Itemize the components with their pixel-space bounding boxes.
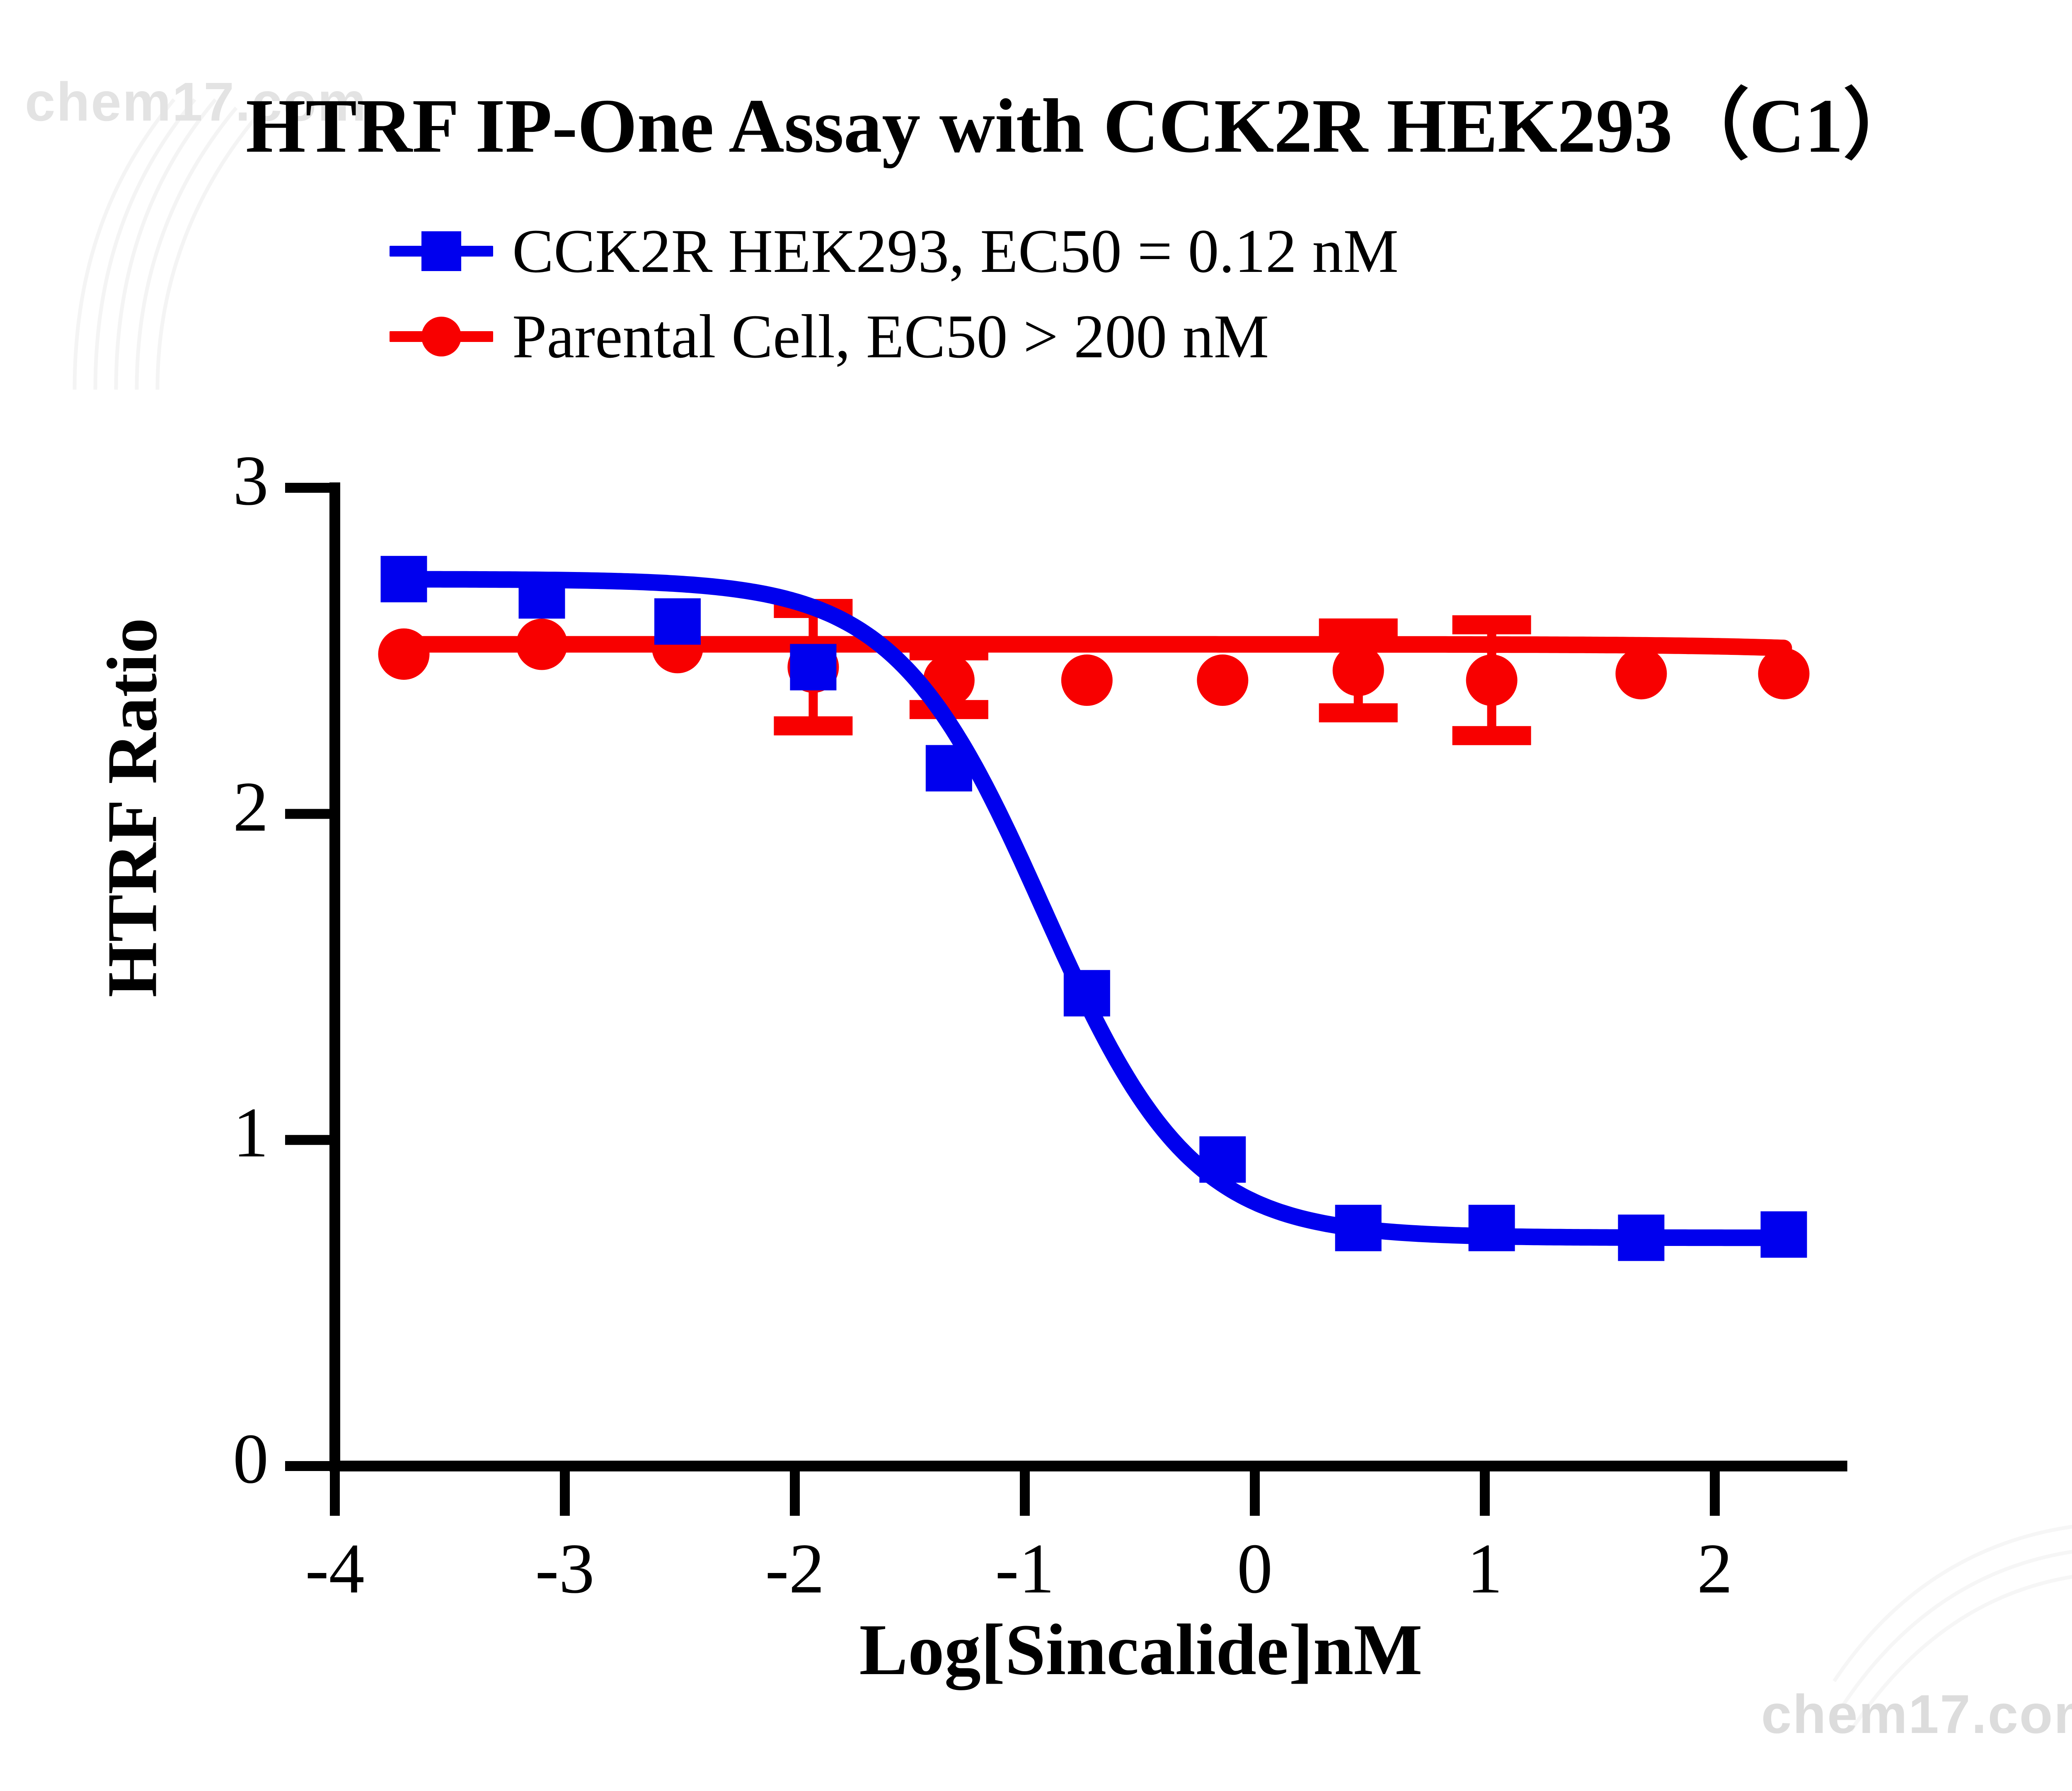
data-point-square[interactable]: [519, 572, 565, 619]
y-axis-tick-label: 2: [233, 766, 269, 848]
x-axis-title: Log[Sincalide]nM: [0, 1608, 2072, 1692]
data-point-circle[interactable]: [1615, 648, 1667, 699]
x-axis-tick-label: -3: [535, 1528, 594, 1610]
data-point-square[interactable]: [1199, 1137, 1246, 1183]
x-axis-tick-label: -4: [305, 1528, 364, 1610]
data-point-circle[interactable]: [378, 628, 430, 680]
data-point-square[interactable]: [1335, 1205, 1382, 1251]
data-point-square[interactable]: [1761, 1211, 1807, 1258]
fit-curve: [404, 645, 1784, 648]
data-point-square[interactable]: [926, 745, 972, 791]
data-point-square[interactable]: [381, 556, 427, 602]
data-point-circle[interactable]: [1197, 654, 1248, 706]
data-point-circle[interactable]: [1758, 648, 1810, 699]
x-axis-tick-label: 2: [1697, 1528, 1733, 1610]
x-axis-tick-label: 0: [1237, 1528, 1273, 1610]
data-point-circle[interactable]: [1333, 645, 1384, 696]
data-point-square[interactable]: [1064, 970, 1110, 1016]
data-point-circle[interactable]: [1061, 654, 1113, 706]
data-point-circle[interactable]: [516, 619, 568, 670]
y-axis-tick-label: 0: [233, 1418, 269, 1500]
chart-canvas: chem17.com chem17.com HTRF IP-One Assay …: [0, 0, 2072, 1789]
data-point-circle[interactable]: [1466, 654, 1518, 706]
plot-svg: [0, 0, 2072, 1789]
x-axis-tick-label: 1: [1467, 1528, 1503, 1610]
data-point-square[interactable]: [790, 644, 836, 691]
x-axis-tick-label: -1: [995, 1528, 1054, 1610]
plot-area: [0, 0, 2072, 1789]
data-point-square[interactable]: [1469, 1205, 1515, 1251]
y-axis-tick-label: 3: [233, 440, 269, 522]
y-axis-tick-label: 1: [233, 1092, 269, 1174]
x-axis-tick-label: -2: [765, 1528, 824, 1610]
data-point-square[interactable]: [654, 598, 701, 645]
series-parental-cell: [378, 608, 1810, 736]
y-axis-title: HTRF Ratio: [92, 476, 174, 1139]
data-point-square[interactable]: [1618, 1214, 1664, 1261]
